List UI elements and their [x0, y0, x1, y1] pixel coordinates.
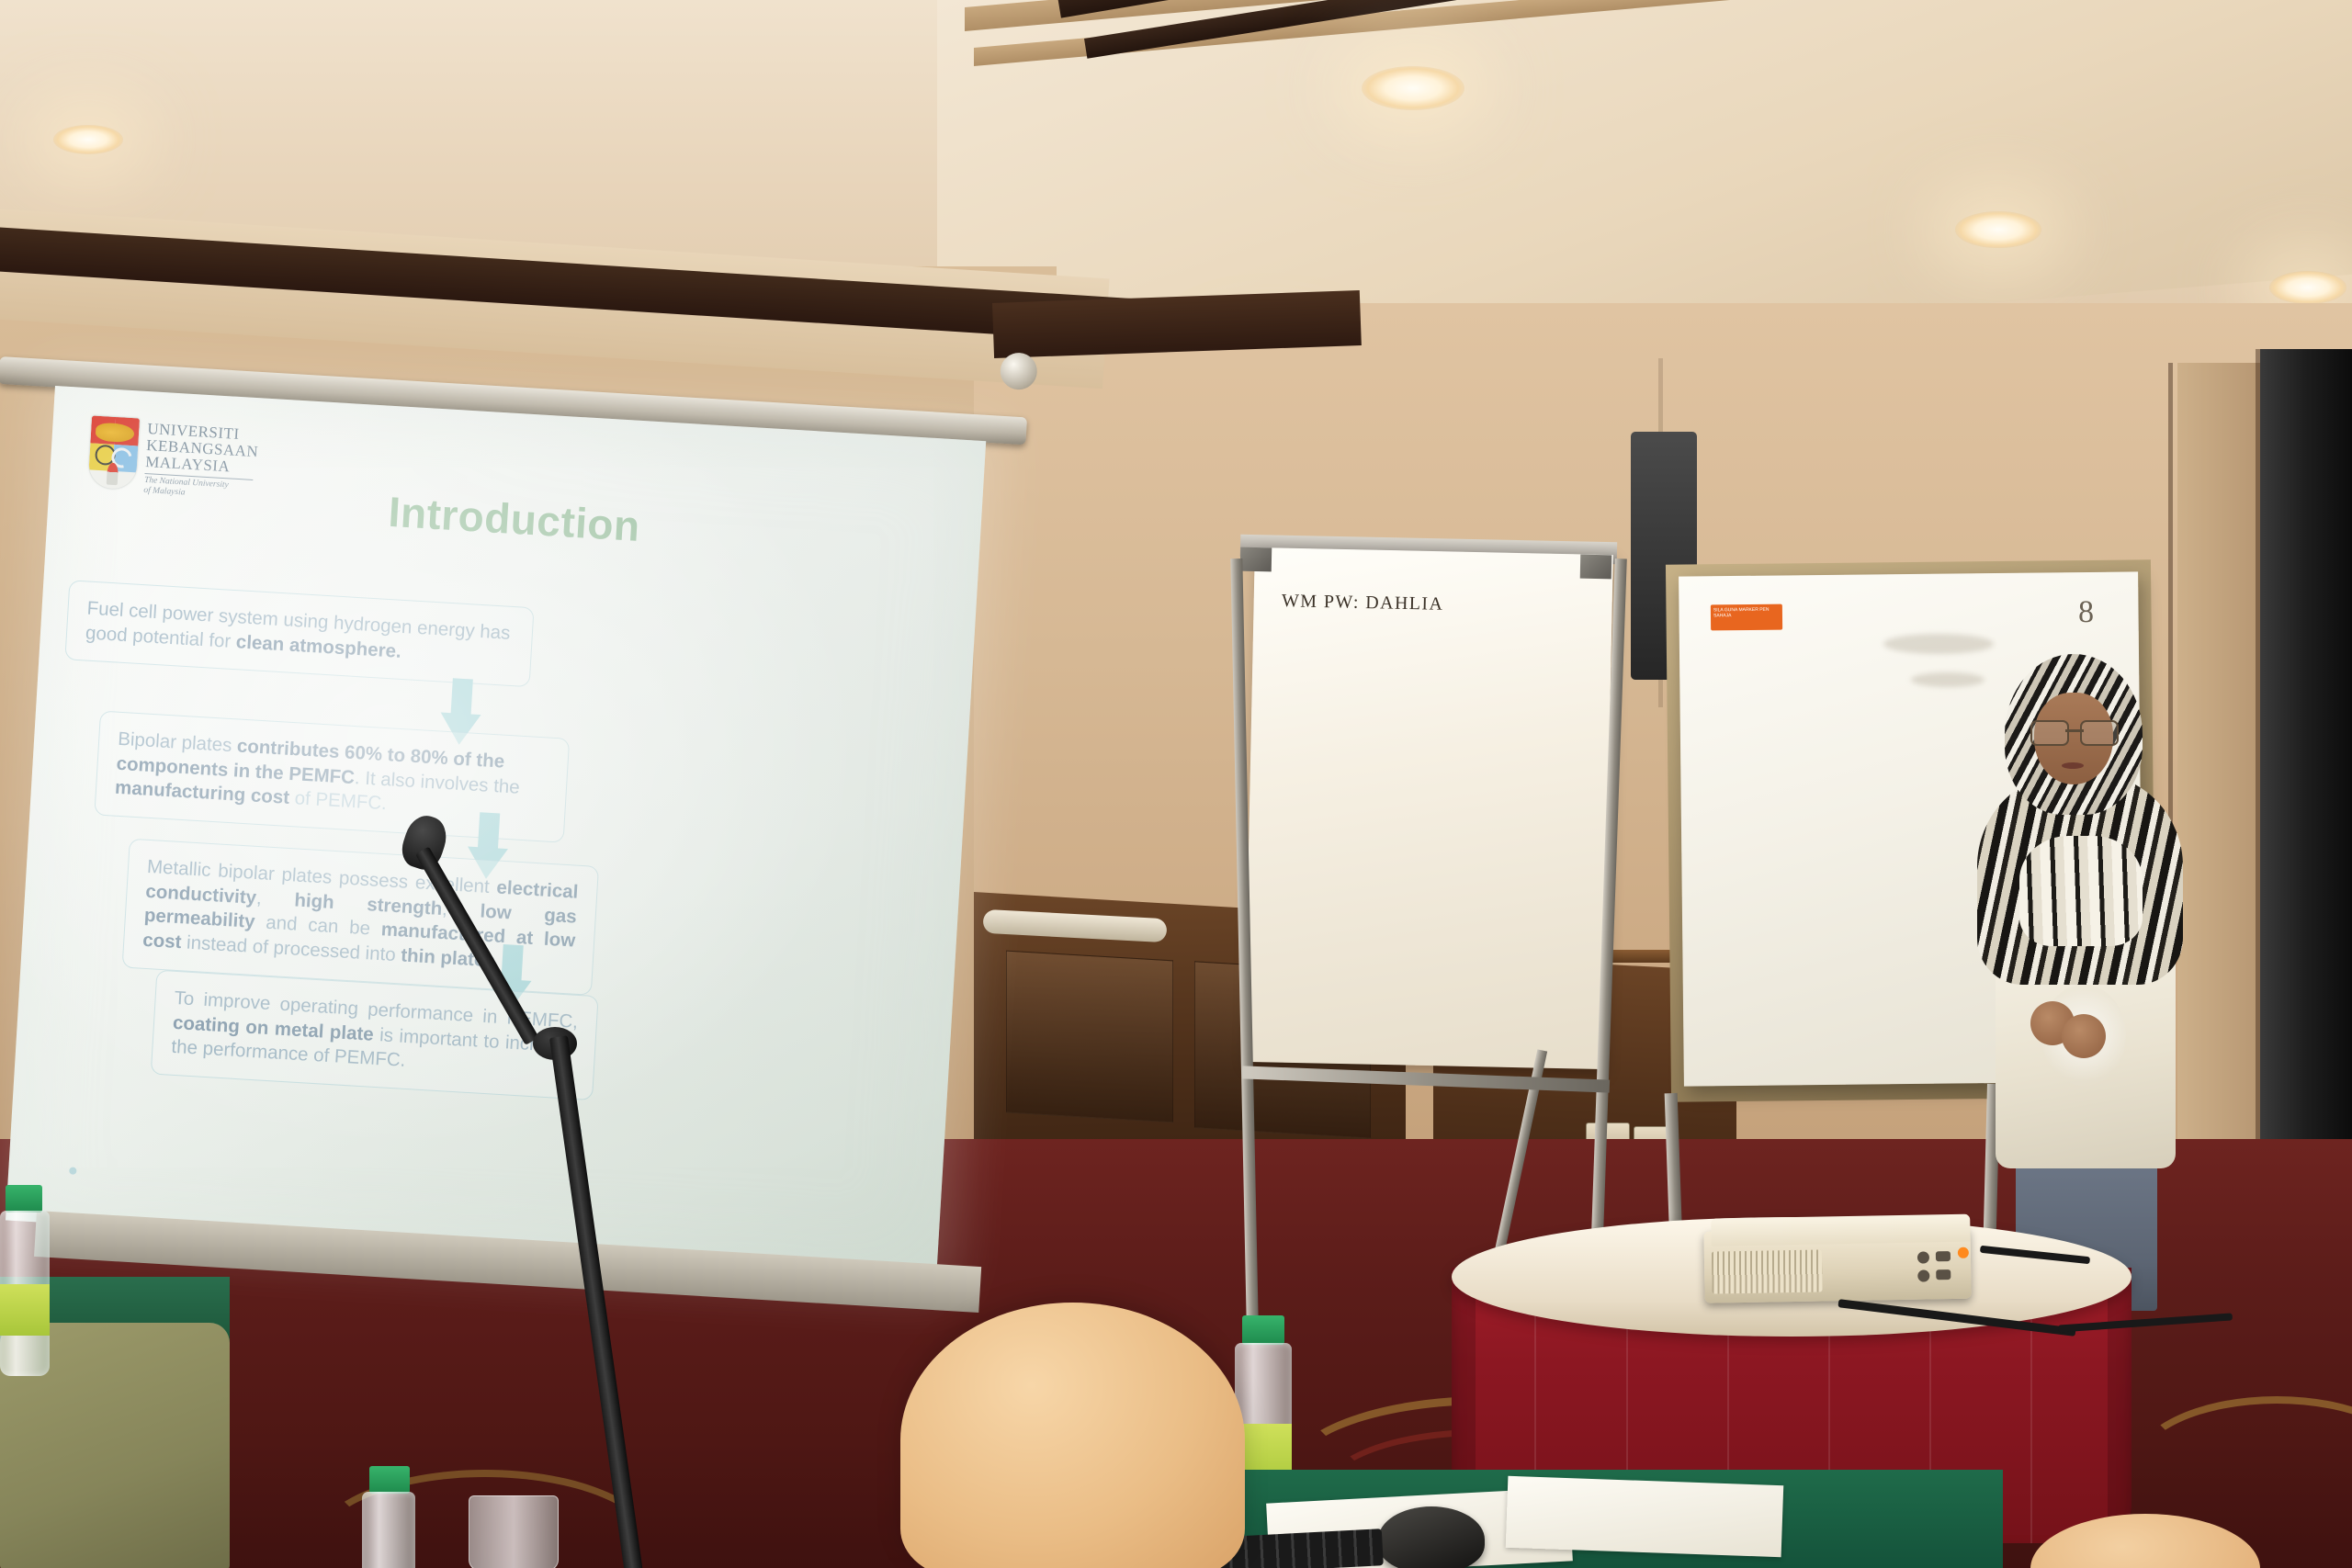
drinking-glass[interactable] — [469, 1495, 559, 1568]
flipchart-paper — [1244, 547, 1613, 1069]
whiteboard-smudge — [1911, 672, 1984, 687]
presenter-shawl-front — [2019, 836, 2143, 946]
presenter-mouth — [2062, 762, 2084, 769]
ceiling-downlight — [53, 125, 123, 154]
projection-screen: UNIVERSITI KEBANGSAAN MALAYSIA The Natio… — [6, 386, 986, 1276]
projector-vent — [1712, 1249, 1823, 1293]
attendee-head-foreground — [900, 1303, 1245, 1568]
conference-room-photo: UNIVERSITI KEBANGSAAN MALAYSIA The Natio… — [0, 0, 2352, 1568]
video-projector — [1703, 1210, 1990, 1311]
projector-port[interactable] — [1936, 1251, 1951, 1261]
screen-glare — [6, 386, 986, 1276]
whiteboard-warning-label: SILA GUNA MARKER PEN SAHAJA — [1711, 604, 1782, 631]
flipchart-handwriting: WM PW: DAHLIA — [1282, 591, 1444, 615]
flipchart-corner-bracket — [1240, 547, 1272, 572]
ceiling-downlight — [2269, 271, 2346, 304]
whiteboard-smudge — [1883, 634, 1994, 654]
computer-mouse[interactable] — [1378, 1506, 1485, 1568]
water-bottle[interactable] — [0, 1185, 51, 1378]
paper-sheet[interactable] — [1506, 1476, 1784, 1557]
whiteboard-corner-number: 8 — [2078, 595, 2094, 630]
eyeglasses-icon — [2030, 720, 2119, 742]
projector-port[interactable] — [1936, 1269, 1951, 1280]
presenter-hand — [2062, 1014, 2106, 1058]
presenter-figure — [1977, 654, 2188, 1297]
ceiling-downlight — [1362, 66, 1464, 110]
flipchart-corner-bracket — [1580, 555, 1612, 580]
ceiling-downlight — [1955, 211, 2041, 248]
credenza-panel — [1006, 951, 1173, 1123]
water-bottle[interactable] — [360, 1466, 419, 1568]
